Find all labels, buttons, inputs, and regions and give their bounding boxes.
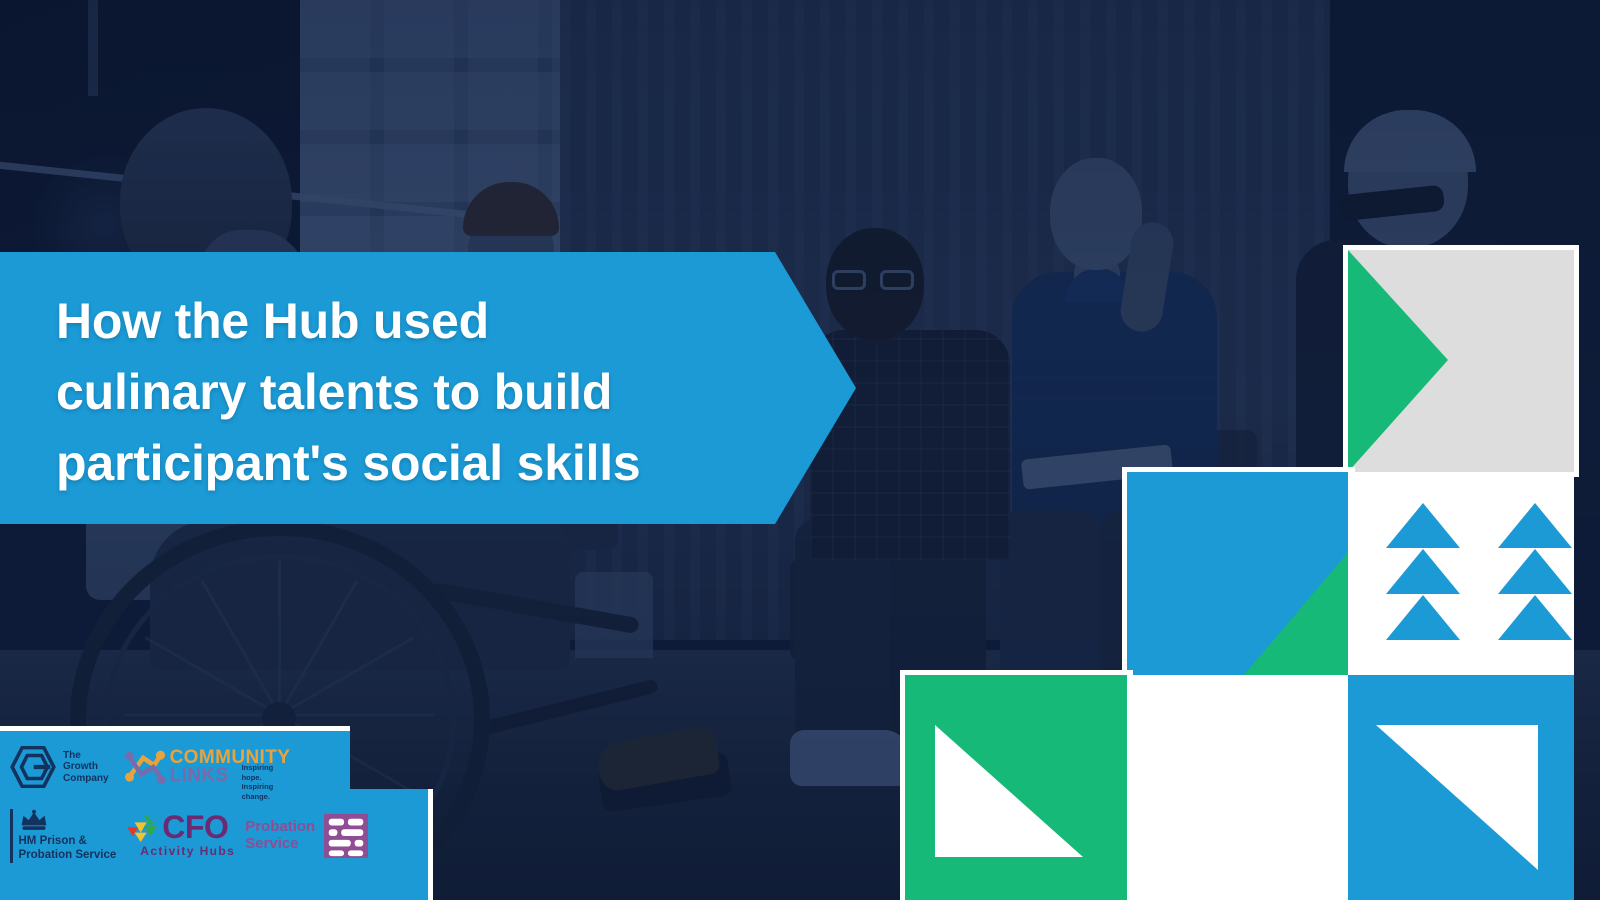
cfo-triangles-icon (126, 814, 160, 842)
page-title-line: participant's social skills (56, 428, 756, 499)
cfo-wordmark: CFO (162, 814, 228, 841)
community-links-wordmark: COMMUNITY LINKS Inspiring hope. Inspirin… (170, 749, 291, 784)
logo-hmpps: HM Prison & Probation Service (10, 809, 116, 863)
logo-community-links: COMMUNITY LINKS Inspiring hope. Inspirin… (123, 747, 291, 787)
white-triangle-icon (905, 675, 1128, 900)
page-title: How the Hub used culinary talents to bui… (56, 286, 756, 499)
logo-cfo-activity-hubs: CFO Activity Hubs (126, 814, 235, 858)
growth-company-wordmark: The Growth Company (63, 750, 109, 784)
logo-row-top: The Growth Company (10, 741, 290, 793)
hmpps-line: Probation Service (19, 849, 117, 863)
probation-service-wordmark: Probation Service (245, 819, 315, 853)
slide-canvas: How the Hub used culinary talents to bui… (0, 0, 1600, 900)
ps-line: Probation (245, 819, 315, 836)
grid-cell-blue-white-triangle (1348, 675, 1574, 900)
gc-line: Company (63, 773, 109, 784)
royal-crown-icon (19, 809, 49, 833)
ps-line: Service (245, 836, 315, 853)
white-triangle-icon (1348, 675, 1574, 900)
hmpps-divider-bar (10, 809, 13, 863)
probation-service-bars-icon (323, 813, 369, 859)
gc-line: Growth (63, 761, 109, 772)
logo-growth-company: The Growth Company (10, 746, 109, 788)
cfo-subtitle: Activity Hubs (140, 844, 235, 858)
community-links-tagline: Inspiring hope. Inspiring change. (242, 763, 291, 801)
grid-cell-triangle-pattern (1348, 472, 1574, 689)
six-blue-triangles-icon (1348, 472, 1574, 689)
green-right-triangle-icon (1348, 250, 1574, 472)
hmpps-wordmark: HM Prison & Probation Service (19, 835, 117, 862)
tagline-line: Inspiring hope. (242, 763, 291, 782)
grid-cell-white-blank (1127, 675, 1350, 900)
grid-cell-grey-green-arrow (1348, 250, 1574, 472)
green-corner-triangle-icon (1127, 472, 1350, 689)
title-banner: How the Hub used culinary talents to bui… (0, 252, 864, 524)
community-links-arrows-icon (123, 747, 167, 787)
growth-company-hexagon-g-icon (10, 746, 56, 788)
logo-probation-service: Probation Service (245, 813, 369, 859)
tagline-line: Inspiring change. (242, 782, 291, 801)
logo-row-bottom: HM Prison & Probation Service (10, 805, 369, 867)
grid-cell-blue-green-diagonal (1127, 472, 1350, 689)
grid-cell-green-white-triangle (905, 675, 1128, 900)
decorative-shape-grid (905, 250, 1600, 900)
hmpps-line: HM Prison & (19, 835, 117, 849)
page-title-line: culinary talents to build (56, 357, 756, 428)
gc-line: The (63, 750, 109, 761)
page-title-line: How the Hub used (56, 286, 756, 357)
